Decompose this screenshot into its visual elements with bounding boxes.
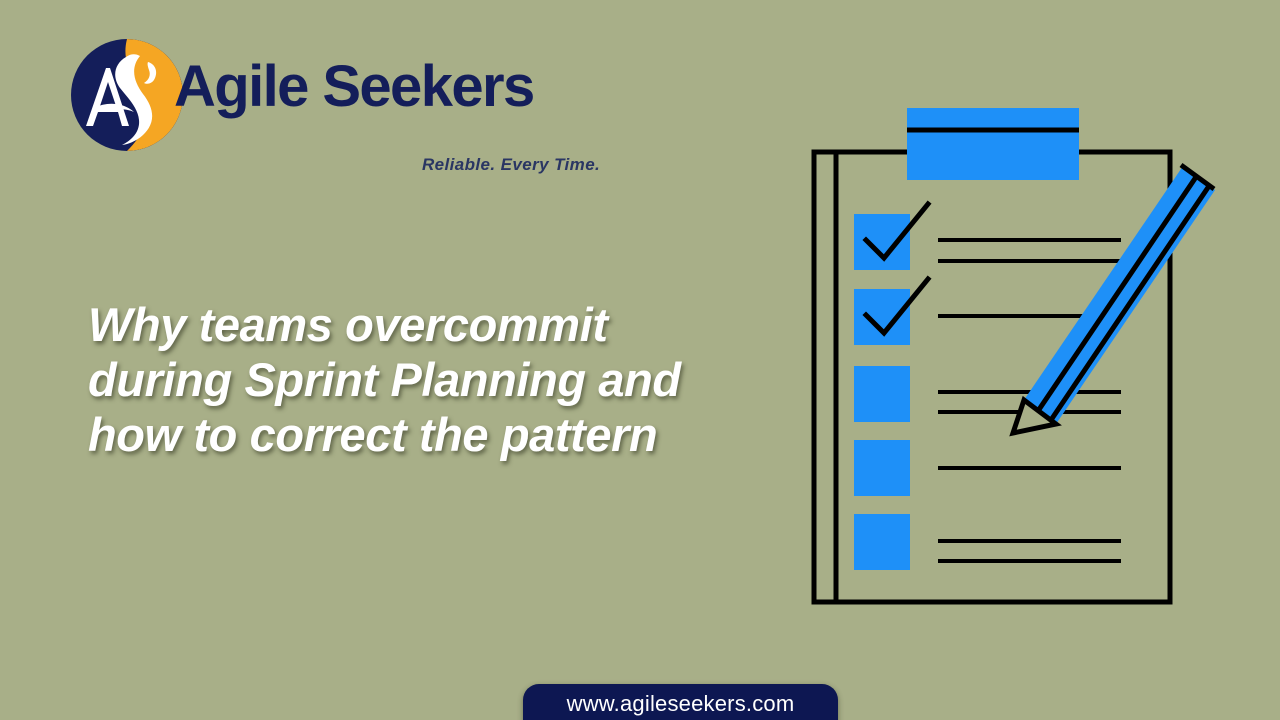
checkbox-5 — [854, 514, 910, 570]
brand-logo[interactable]: Agile Seekers Reliable. Every Time. — [70, 36, 540, 156]
website-url-text: www.agileseekers.com — [567, 693, 795, 715]
checkbox-4 — [854, 440, 910, 496]
brand-name: Agile Seekers — [174, 58, 534, 116]
clipboard-checklist-illustration — [790, 100, 1250, 620]
checkbox-1 — [854, 214, 910, 270]
page-title: Why teams overcommit during Sprint Plann… — [88, 298, 728, 463]
clipboard-clip — [907, 108, 1079, 180]
banner-canvas: Agile Seekers Reliable. Every Time. Why … — [0, 0, 1280, 720]
headline-line-3: how to correct the pattern — [88, 408, 728, 463]
brand-tagline: Reliable. Every Time. — [422, 156, 600, 173]
website-url-pill[interactable]: www.agileseekers.com — [523, 684, 838, 720]
headline-line-2: during Sprint Planning and — [88, 353, 728, 408]
checkbox-2 — [854, 289, 910, 345]
headline-line-1: Why teams overcommit — [88, 298, 728, 353]
agile-seekers-swan-monogram-icon — [70, 38, 184, 152]
checkbox-3 — [854, 366, 910, 422]
